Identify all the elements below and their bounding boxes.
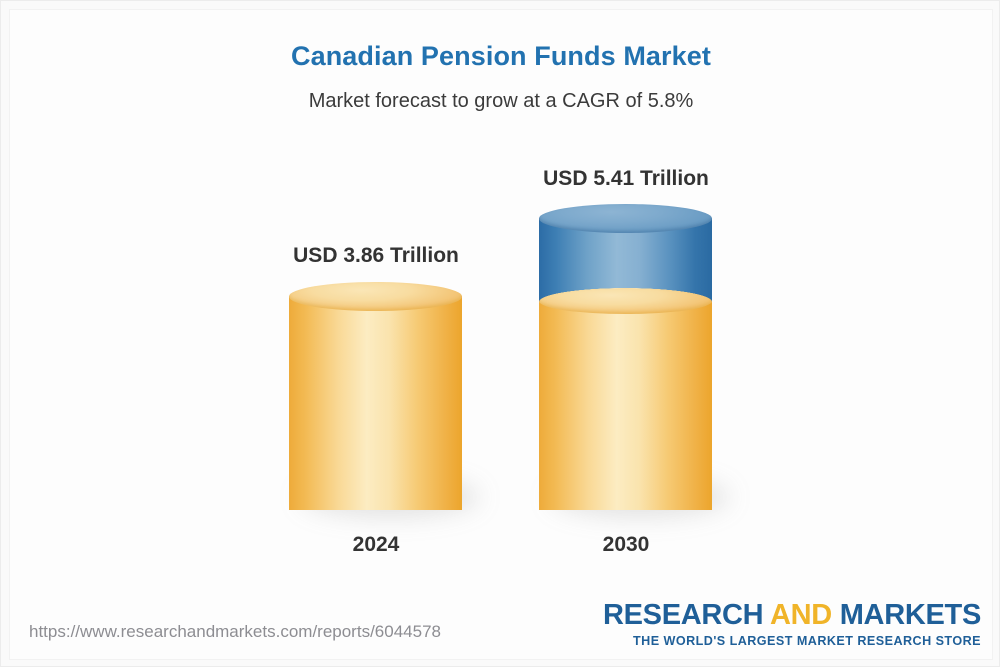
bar-body-base-2030 [539, 300, 712, 510]
page-title: Canadian Pension Funds Market [1, 41, 1000, 72]
logo-wordmark: RESEARCH AND MARKETS [603, 601, 981, 630]
bar-category-label-2030: 2030 [466, 533, 786, 557]
bar-value-label-2024: USD 3.86 Trillion [216, 244, 536, 268]
page-subtitle: Market forecast to grow at a CAGR of 5.8… [1, 90, 1000, 113]
logo-tagline: THE WORLD'S LARGEST MARKET RESEARCH STOR… [603, 634, 981, 648]
logo-word-research: RESEARCH [603, 599, 770, 631]
bar-value-label-2030: USD 5.41 Trillion [466, 167, 786, 191]
research-and-markets-logo[interactable]: RESEARCH AND MARKETS THE WORLD'S LARGEST… [603, 601, 981, 648]
logo-word-markets: MARKETS [840, 599, 981, 631]
infographic-canvas: Canadian Pension Funds Market Market for… [0, 0, 1000, 667]
bar-top-ellipse-2030 [539, 204, 712, 233]
bar-body-2024 [289, 296, 462, 510]
bar-top-ellipse-2024 [289, 282, 462, 311]
logo-word-and: AND [770, 599, 840, 631]
report-url-link[interactable]: https://www.researchandmarkets.com/repor… [29, 622, 441, 642]
